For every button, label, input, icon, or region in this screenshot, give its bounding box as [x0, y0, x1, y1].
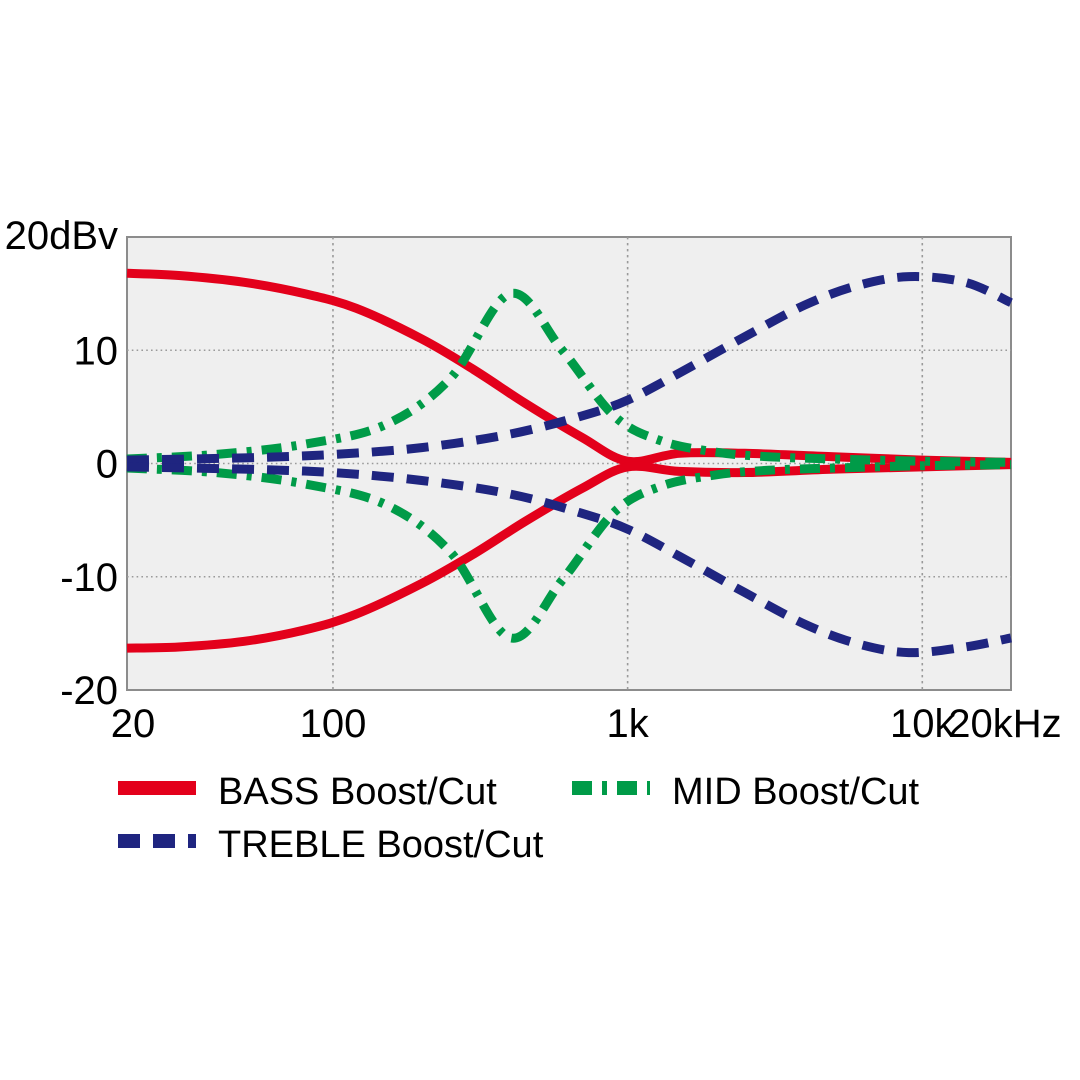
y-tick-label: 10 [74, 329, 119, 373]
legend-label: TREBLE Boost/Cut [218, 824, 544, 866]
y-tick-label: -10 [60, 556, 118, 600]
legend-label: BASS Boost/Cut [218, 771, 497, 813]
x-tick-label: 20kHz [948, 702, 1061, 746]
legend-label: MID Boost/Cut [672, 771, 920, 813]
x-tick-label: 20 [111, 702, 156, 746]
eq-response-chart: 20dBv100-10-20 201001k10k20kHz BASS Boos… [0, 0, 1080, 1080]
x-tick-label: 10k [890, 702, 955, 746]
y-tick-label: 20dBv [5, 214, 118, 258]
y-tick-label: -20 [60, 669, 118, 713]
x-tick-label: 100 [300, 702, 367, 746]
x-tick-label: 1k [607, 702, 650, 746]
y-tick-label: 0 [96, 443, 118, 487]
